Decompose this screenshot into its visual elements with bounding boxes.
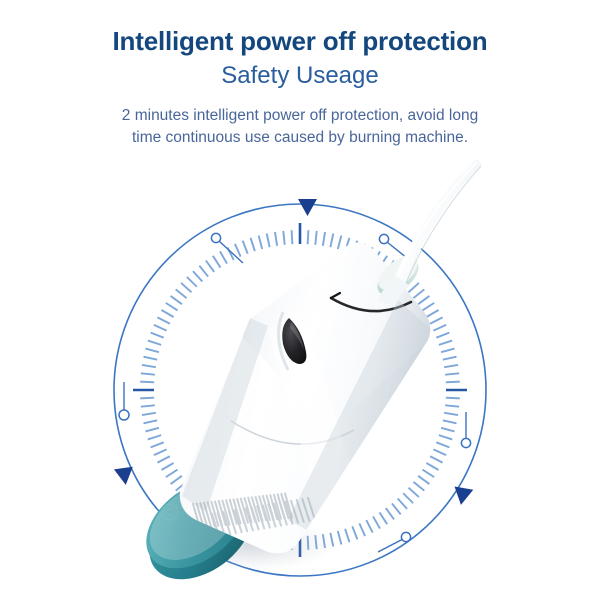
tick-minor: [142, 365, 156, 367]
tick-minor: [243, 526, 248, 539]
tick-minor: [235, 244, 241, 257]
tick-minor: [373, 251, 380, 263]
grip-rib: [193, 504, 200, 528]
body-description: 2 minutes intelligent power off protecti…: [80, 105, 520, 149]
grip-rib: [281, 494, 288, 518]
tick-minor: [380, 512, 388, 524]
grip-rib: [263, 506, 270, 528]
grip-rib: [245, 498, 252, 522]
tick-minor: [213, 256, 221, 268]
tick-minor: [443, 420, 457, 423]
tick-minor: [157, 456, 169, 462]
tank-seam: [331, 298, 411, 311]
tick-minor: [338, 531, 342, 545]
tick-minor: [330, 533, 333, 547]
tick-minor: [145, 428, 159, 432]
tick-minor: [446, 398, 460, 399]
tick-minor: [352, 526, 357, 539]
tick-minor: [441, 428, 455, 432]
tick-minor: [413, 482, 424, 491]
page-title: Intelligent power off protection: [0, 26, 600, 56]
tick-minor: [145, 349, 159, 353]
grip-rib: [252, 507, 259, 529]
tick-minor: [444, 365, 458, 367]
tick-minor: [315, 535, 316, 549]
body-line-2: time continuous use caused by burning ma…: [132, 129, 468, 146]
tick-minor: [154, 449, 167, 455]
tick-minor: [181, 488, 191, 497]
tick-minor: [292, 230, 293, 244]
grip-rib: [200, 503, 207, 527]
tick-minor: [315, 231, 316, 245]
tick-minor: [227, 247, 233, 259]
grip-rib: [267, 496, 274, 520]
tick-minor: [144, 357, 158, 360]
tick-minor: [413, 289, 424, 298]
tick-minor: [243, 241, 248, 254]
grip-rib: [302, 499, 309, 521]
tick-minor: [345, 238, 349, 251]
tick-minor: [220, 251, 227, 263]
nozzle-tip: [378, 159, 482, 306]
device-tank-section: [182, 236, 440, 536]
grip-rib: [237, 499, 244, 523]
tick-minor: [141, 405, 155, 406]
grip-rib: [230, 500, 237, 524]
tick-minor: [392, 503, 401, 514]
grip-rib: [274, 504, 281, 526]
tick-minor: [433, 325, 446, 331]
grip-rib: [280, 503, 287, 525]
device-shadow: [164, 519, 336, 571]
tick-minor: [422, 470, 434, 478]
device-body: [180, 243, 430, 554]
tick-minor: [259, 235, 263, 249]
power-button-recess: [279, 312, 288, 370]
ring-markers: [114, 199, 473, 507]
tick-minor: [418, 296, 429, 304]
tick-minor: [148, 435, 161, 439]
device-water-flosser: [130, 159, 482, 598]
tick-minor: [193, 499, 202, 509]
grip-rib: [218, 513, 225, 535]
tick-minor: [199, 503, 208, 514]
tick-minor: [206, 508, 214, 519]
tick-minor: [443, 357, 457, 360]
tick-minor: [426, 463, 438, 470]
grip-rib: [235, 510, 242, 532]
tick-minor: [330, 234, 333, 248]
tick-minor: [422, 303, 434, 311]
tick-minor: [359, 244, 365, 257]
tick-minor: [275, 534, 277, 548]
tick-minor: [292, 536, 293, 550]
tick-minor: [140, 382, 154, 383]
power-button-gloss: [290, 322, 304, 350]
product-feature-card: Intelligent power off protection Safety …: [0, 0, 600, 600]
tick-minor: [227, 520, 233, 532]
tick-minor: [436, 442, 449, 447]
grip-rib: [212, 514, 219, 536]
body-grip-ribs: [193, 494, 315, 537]
grip-rib: [223, 512, 230, 534]
grip-rib: [259, 496, 266, 520]
tick-minor: [403, 277, 413, 287]
tick-minor: [176, 482, 187, 491]
marker-bottom-right-triangle: [452, 486, 474, 506]
tick-minor: [154, 325, 167, 331]
body-line-1: 2 minutes intelligent power off protecti…: [122, 107, 478, 124]
teal-base-ring: [130, 462, 271, 599]
grip-rib: [285, 494, 292, 518]
tick-minor: [441, 349, 455, 353]
tick-minor: [140, 398, 154, 399]
tick-minor: [161, 463, 173, 470]
tick-minor: [166, 303, 178, 311]
tick-minor: [206, 261, 214, 272]
tick-minor: [187, 277, 197, 287]
node-right: [461, 412, 470, 448]
tick-minor: [283, 231, 284, 245]
tick-minor: [142, 413, 156, 415]
tick-minor: [345, 529, 349, 542]
tick-minor: [171, 476, 182, 484]
tick-minor: [259, 531, 263, 545]
tick-minor: [436, 333, 449, 338]
grip-rib: [257, 506, 264, 528]
grip-rib: [263, 496, 270, 520]
tick-minor: [141, 373, 155, 374]
tick-minor: [403, 493, 413, 503]
tick-minor: [171, 296, 182, 304]
tick-minor: [323, 534, 325, 548]
grip-rib: [248, 498, 255, 522]
tick-minor: [409, 283, 419, 292]
node-left: [119, 382, 129, 420]
outer-ring-circle: [114, 204, 486, 576]
tick-minor: [267, 234, 270, 248]
grip-rib: [226, 500, 233, 524]
tick-minor: [386, 261, 394, 272]
tick-minor: [445, 373, 459, 374]
tick-minor: [308, 536, 309, 550]
grip-rib: [233, 499, 240, 523]
tick-minor: [235, 523, 241, 536]
tick-minor: [359, 523, 365, 536]
tick-minor: [430, 317, 442, 323]
tick-minor: [275, 232, 277, 246]
grip-rib: [252, 497, 259, 521]
node-bottom-right: [378, 532, 411, 552]
tick-minor: [373, 516, 380, 528]
tick-minor: [446, 382, 460, 383]
tick-minor: [213, 512, 221, 524]
grip-rib: [278, 494, 285, 518]
tick-minor: [157, 317, 169, 323]
tick-minor: [430, 456, 442, 462]
tick-minor: [151, 333, 164, 338]
page-subtitle: Safety Useage: [0, 62, 600, 91]
tick-minor: [148, 341, 161, 345]
tick-minor: [386, 508, 394, 519]
tick-minor: [439, 435, 452, 439]
tick-minor: [398, 499, 407, 509]
marker-left-triangle: [114, 467, 135, 486]
tick-minor: [439, 341, 452, 345]
grip-rib: [291, 501, 298, 523]
grip-rib: [268, 505, 275, 527]
tick-minor: [151, 442, 164, 447]
grip-rib: [274, 495, 281, 519]
tick-minor: [366, 520, 372, 532]
grip-rib: [256, 497, 263, 521]
grip-rib: [246, 508, 253, 530]
grip-rib: [211, 502, 218, 526]
tick-minor: [409, 488, 419, 497]
grip-rib: [229, 511, 236, 533]
tick-minor: [144, 420, 158, 423]
grip-rib: [285, 502, 292, 524]
power-button: [282, 318, 306, 364]
tick-minor: [445, 405, 459, 406]
tick-minor: [392, 266, 401, 277]
tick-minor: [433, 449, 446, 455]
tick-minor: [176, 289, 187, 298]
tick-minor: [308, 230, 309, 244]
grip-rib: [308, 498, 315, 520]
body-split-line: [231, 421, 354, 444]
tick-minor: [193, 271, 202, 281]
tick-minor: [444, 413, 458, 415]
tick-minor: [398, 271, 407, 281]
tick-minor: [338, 235, 342, 249]
tick-minor: [181, 283, 191, 292]
grip-rib: [297, 500, 304, 522]
grip-rib: [204, 503, 211, 527]
tick-minor: [283, 535, 284, 549]
node-top-left: [211, 233, 243, 263]
grip-rib: [197, 504, 204, 528]
tick-minor: [426, 310, 438, 317]
tick-minor: [251, 529, 255, 542]
tick-minor: [323, 232, 325, 246]
grip-rib: [240, 509, 247, 531]
marker-top-triangle: [298, 199, 317, 216]
tick-minor: [199, 266, 208, 277]
grip-rib: [222, 501, 229, 525]
text-block: Intelligent power off protection Safety …: [0, 0, 600, 149]
grip-rib: [270, 495, 277, 519]
grip-rib: [219, 501, 226, 525]
tick-minor: [166, 470, 178, 478]
tick-minor: [418, 476, 429, 484]
tick-minor: [352, 241, 357, 254]
tick-minor: [366, 247, 372, 259]
ring-nodes: [119, 233, 471, 552]
tick-minor: [267, 533, 270, 547]
tick-minor: [380, 256, 388, 268]
node-top-right: [379, 234, 412, 262]
grip-rib: [215, 501, 222, 525]
tick-minor: [220, 516, 227, 528]
grip-rib: [241, 499, 248, 523]
tick-minor: [251, 238, 255, 251]
tick-minor: [161, 310, 173, 317]
grip-rib: [208, 502, 215, 526]
tick-ring: [133, 223, 467, 557]
tick-minor: [187, 493, 197, 503]
nozzle-collar: [371, 249, 425, 302]
